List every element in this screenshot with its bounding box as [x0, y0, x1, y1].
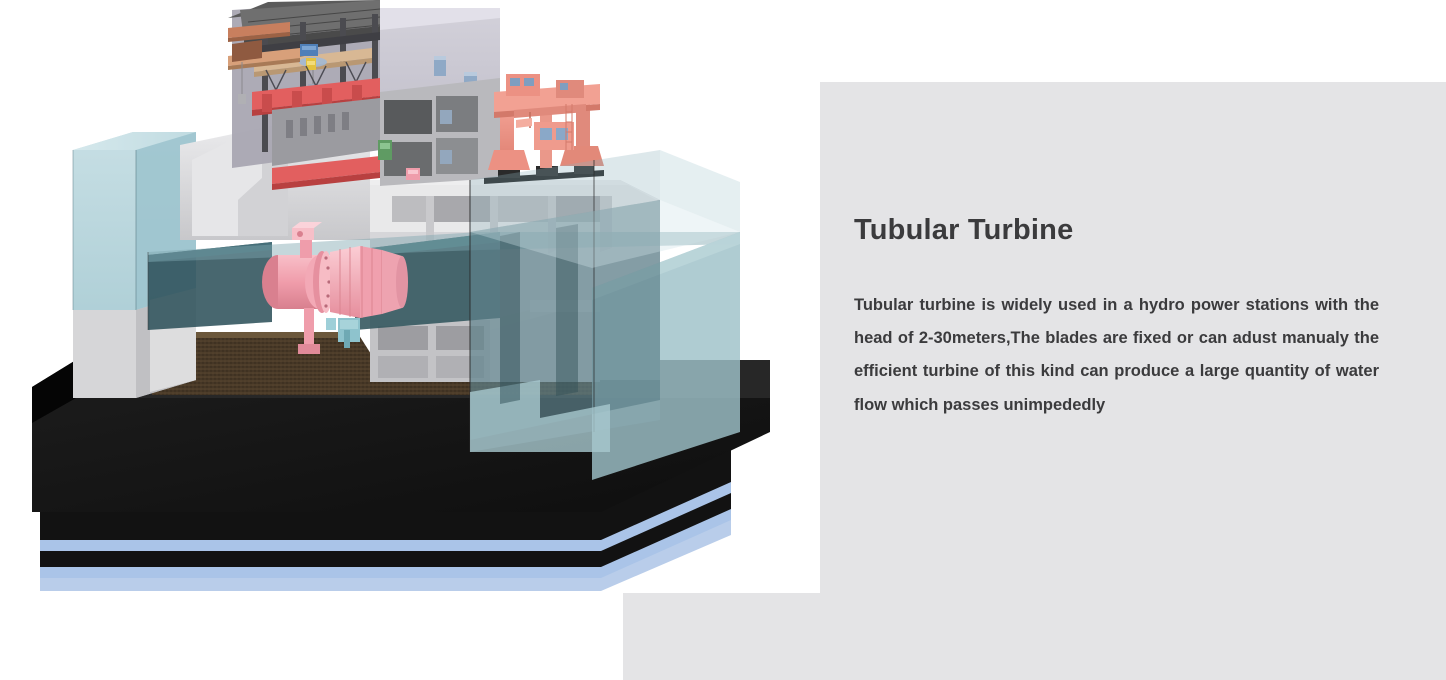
product-text-block: Tubular Turbine Tubular turbine is widel… [854, 215, 1379, 422]
page-stage: Tubular Turbine Tubular turbine is widel… [0, 0, 1446, 680]
tubular-turbine-render [0, 0, 821, 594]
hydro-powerhouse-cutaway-illustration [0, 0, 821, 594]
product-description: Tubular turbine is widely used in a hydr… [854, 289, 1379, 422]
bottom-accent-panel [623, 593, 1446, 680]
illustration-panel [0, 0, 821, 594]
page-title: Tubular Turbine [854, 215, 1379, 247]
